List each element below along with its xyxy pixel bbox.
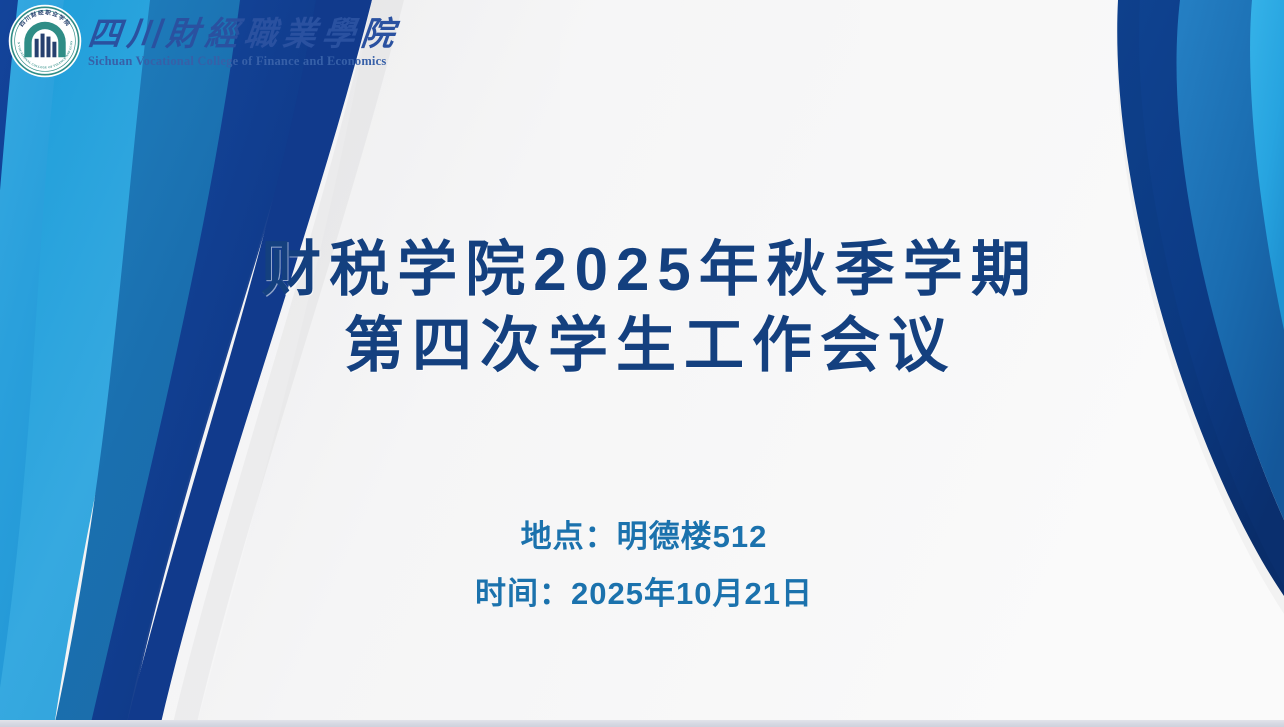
slide-bottom-edge	[0, 720, 1284, 727]
university-seal-icon: 四川财经职业学院 SICHUAN VOCATIONAL COLLEGE OF F…	[8, 4, 82, 78]
meeting-datetime: 时间：2025年10月21日	[4, 565, 1284, 622]
slide-title-line-1: 财税学院2025年秋季学期	[16, 232, 1284, 308]
brand-name-en: Sichuan Vocational College of Finance an…	[88, 55, 400, 68]
brand-name-cn: 四川財經職業學院	[86, 19, 401, 52]
slide-title: 财税学院2025年秋季学期 第四次学生工作会议	[0, 232, 1284, 384]
presentation-slide: 四川财经职业学院 SICHUAN VOCATIONAL COLLEGE OF F…	[0, 0, 1284, 727]
brand-wordmark: 四川財經職業學院 Sichuan Vocational College of F…	[88, 15, 400, 68]
brand-lockup: 四川财经职业学院 SICHUAN VOCATIONAL COLLEGE OF F…	[8, 4, 400, 78]
slide-meta: 地点：明德楼512 时间：2025年10月21日	[0, 508, 1284, 623]
slide-title-line-2: 第四次学生工作会议	[16, 308, 1284, 384]
meeting-location: 地点：明德楼512	[4, 508, 1284, 565]
